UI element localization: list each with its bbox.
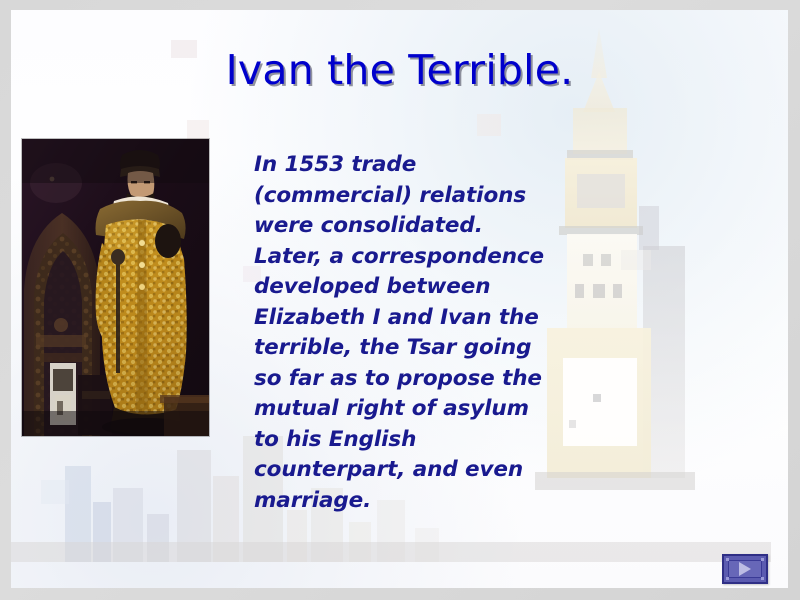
body-line: marriage. [254, 486, 590, 517]
body-line: were consolidated. [254, 211, 590, 242]
body-line: (commercial) relations [254, 181, 590, 212]
button-corner-marker [761, 558, 764, 561]
body-line: Later, a correspondence [254, 242, 590, 273]
slide-title: Ivan the Terrible. [11, 46, 788, 94]
body-line: so far as to propose the [254, 364, 590, 395]
body-line: developed between [254, 272, 590, 303]
button-corner-marker [726, 558, 729, 561]
slide-body-text: In 1553 trade (commercial) relations wer… [254, 150, 590, 516]
body-line: mutual right of asylum [254, 394, 590, 425]
button-corner-marker [761, 577, 764, 580]
body-line: In 1553 trade [254, 150, 590, 181]
ivan-the-terrible-portrait [22, 139, 209, 436]
body-line: Elizabeth I and Ivan the [254, 303, 590, 334]
slide-frame: Ivan the Terrible. [0, 0, 800, 600]
body-line: to his English [254, 425, 590, 456]
body-line: terrible, the Tsar going [254, 333, 590, 364]
button-corner-marker [726, 577, 729, 580]
play-triangle-icon [739, 562, 751, 576]
portrait-illustration [22, 139, 209, 436]
body-line: counterpart, and even [254, 455, 590, 486]
next-slide-button-inner [728, 560, 762, 578]
slide-canvas: Ivan the Terrible. [11, 10, 788, 588]
next-slide-button[interactable] [722, 554, 768, 584]
